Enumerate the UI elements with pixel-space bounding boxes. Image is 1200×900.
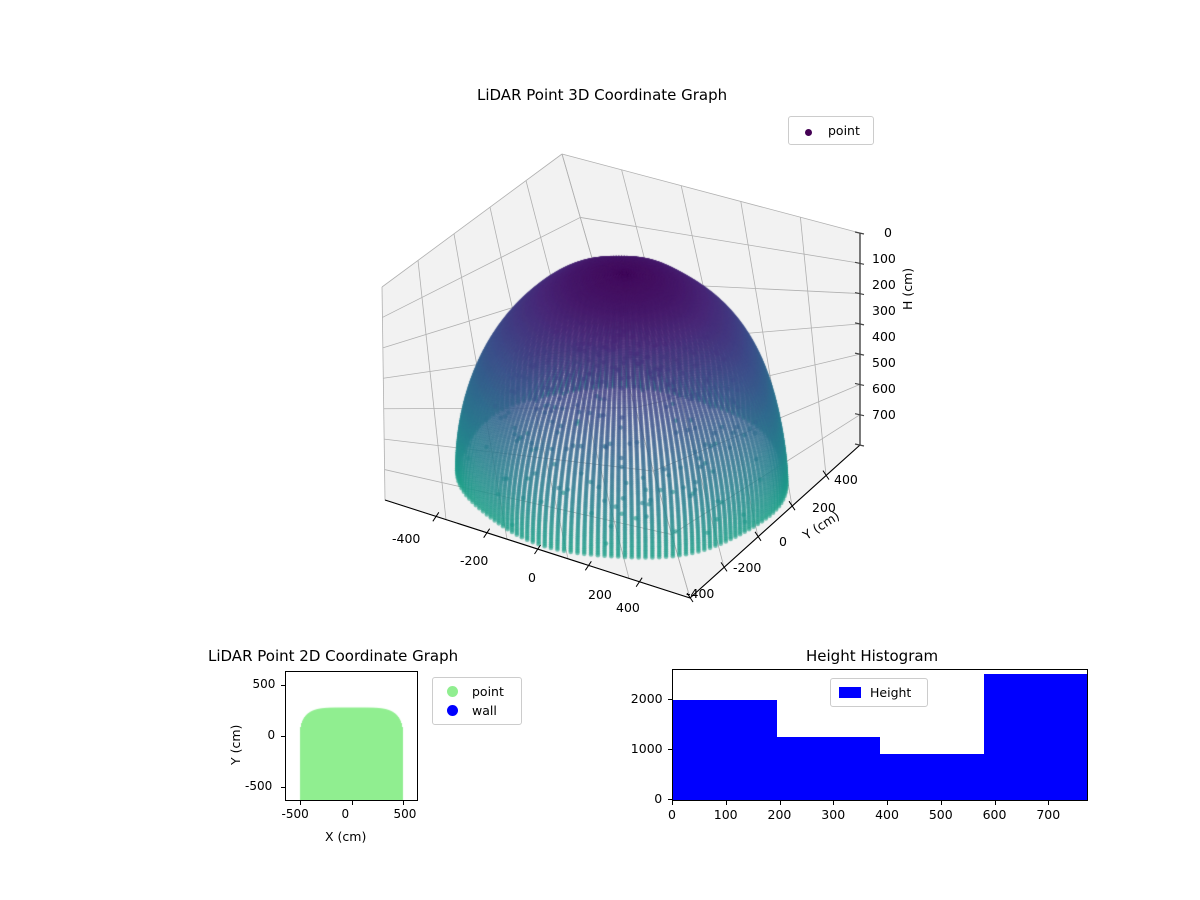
legend-entry-height: Height <box>839 683 919 702</box>
tick-label: 0 <box>654 791 662 806</box>
legend-label: Height <box>870 685 911 700</box>
tick-label: 1000 <box>631 741 663 756</box>
tick-label: 400 <box>875 807 899 822</box>
plot2d-xaxis-label: X (cm) <box>325 829 366 844</box>
tick-mark <box>668 699 672 700</box>
tick-label: 200 <box>872 277 896 292</box>
point-marker-icon <box>441 682 463 701</box>
tick-label: -400 <box>392 531 420 546</box>
tick-mark <box>887 801 888 805</box>
histogram-bar <box>777 737 881 801</box>
plot3d-axes[interactable] <box>330 140 930 640</box>
tick-label: 400 <box>834 472 858 487</box>
tick-mark <box>726 801 727 805</box>
tick-label: -200 <box>733 560 761 575</box>
plot2d-yaxis-label: Y (cm) <box>228 725 243 765</box>
tick-label: 300 <box>821 807 845 822</box>
tick-mark <box>352 801 353 805</box>
tick-label: 0 <box>668 807 676 822</box>
tick-label: 100 <box>872 251 896 266</box>
wall-marker-icon <box>441 701 463 720</box>
histogram-title: Height Histogram <box>806 647 938 665</box>
matplotlib-figure: LiDAR Point 3D Coordinate Graph point 01… <box>0 0 1200 900</box>
tick-mark <box>780 801 781 805</box>
tick-mark <box>281 685 285 686</box>
legend-entry-point: point <box>797 121 865 140</box>
tick-label: -200 <box>460 553 488 568</box>
tick-label: 700 <box>1036 807 1060 822</box>
point-marker-icon <box>797 121 819 140</box>
tick-label: 0 <box>779 534 787 549</box>
histogram-bar <box>880 754 984 800</box>
tick-mark <box>668 749 672 750</box>
plot3d-zaxis-label: H (cm) <box>900 268 915 310</box>
plot3d-axis-lines <box>330 140 930 640</box>
tick-label: 500 <box>253 677 276 691</box>
histogram-legend[interactable]: Height <box>830 678 928 707</box>
tick-label: 500 <box>872 355 896 370</box>
plot2d-title: LiDAR Point 2D Coordinate Graph <box>208 647 458 665</box>
tick-mark <box>668 799 672 800</box>
tick-label: 100 <box>714 807 738 822</box>
histogram-bar <box>984 674 1088 801</box>
histogram-bar <box>673 700 777 800</box>
tick-label: 0 <box>528 570 536 585</box>
legend-label: point <box>472 684 504 699</box>
plot2d-axes[interactable] <box>285 671 418 801</box>
tick-label: 0 <box>268 728 276 742</box>
tick-label: 600 <box>983 807 1007 822</box>
height-patch-icon <box>839 683 861 702</box>
legend-label: wall <box>472 703 497 718</box>
tick-label: 300 <box>872 303 896 318</box>
tick-label: 0 <box>342 807 350 821</box>
tick-mark <box>833 801 834 805</box>
tick-label: 500 <box>929 807 953 822</box>
tick-label: 600 <box>872 381 896 396</box>
legend-entry-wall: wall <box>441 701 513 720</box>
tick-mark <box>672 801 673 805</box>
tick-label: -500 <box>282 807 309 821</box>
plot2d-point-cloud <box>286 672 417 800</box>
tick-label: 200 <box>768 807 792 822</box>
tick-mark <box>300 801 301 805</box>
tick-label: 500 <box>393 807 416 821</box>
tick-label: -500 <box>245 779 272 793</box>
tick-mark <box>995 801 996 805</box>
tick-label: 0 <box>884 225 892 240</box>
tick-label: 200 <box>588 587 612 602</box>
tick-label: 400 <box>616 600 640 615</box>
tick-mark <box>281 736 285 737</box>
tick-mark <box>1048 801 1049 805</box>
tick-mark <box>403 801 404 805</box>
tick-label: 700 <box>872 407 896 422</box>
tick-mark <box>281 787 285 788</box>
legend-label: point <box>828 123 860 138</box>
tick-label: 400 <box>872 329 896 344</box>
tick-label: -400 <box>686 586 714 601</box>
plot2d-legend[interactable]: point wall <box>432 677 522 725</box>
legend-entry-point: point <box>441 682 513 701</box>
plot3d-title: LiDAR Point 3D Coordinate Graph <box>477 86 727 104</box>
tick-label: 2000 <box>631 691 663 706</box>
tick-mark <box>941 801 942 805</box>
